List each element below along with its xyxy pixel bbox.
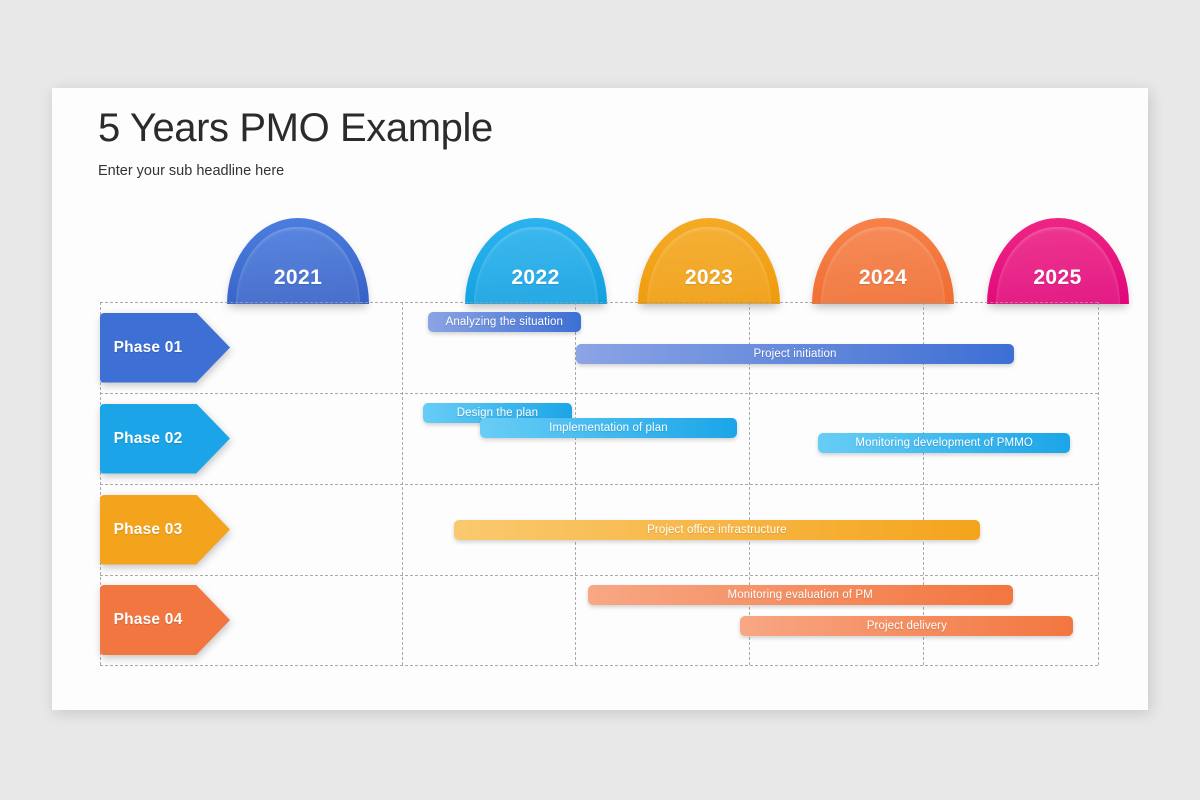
year-marker-2024[interactable]: 2024 [812,218,954,304]
slide-canvas: 5 Years PMO Example Enter your sub headl… [52,88,1148,710]
grid-horizontal-line [100,484,1098,485]
task-bar[interactable]: Project initiation [576,344,1015,364]
task-bar-label: Analyzing the situation [446,316,563,328]
phase-arrow-phase-04[interactable]: Phase 04 [100,585,230,655]
pmo-gantt-chart: 20212022202320242025 Phase 01Phase 02Pha… [52,88,1148,710]
year-label: 2025 [987,266,1129,290]
task-bar-label: Project delivery [867,620,947,632]
grid-horizontal-line [100,575,1098,576]
phase-arrow-phase-01[interactable]: Phase 01 [100,313,230,383]
task-bar-label: Project initiation [753,348,836,360]
phase-arrow-phase-02[interactable]: Phase 02 [100,404,230,474]
task-bar-label: Monitoring evaluation of PM [728,589,873,601]
task-bar-label: Project office infrastructure [647,524,786,536]
task-bar[interactable]: Project delivery [740,616,1073,636]
task-bar[interactable]: Implementation of plan [480,418,737,438]
grid-horizontal-line [100,665,1098,666]
task-bar[interactable]: Project office infrastructure [454,520,980,540]
task-bar[interactable]: Monitoring development of PMMO [818,433,1070,453]
year-label: 2023 [638,266,780,290]
grid-horizontal-line [100,393,1098,394]
phase-label: Phase 01 [100,313,196,383]
grid-vertical-line [402,302,403,665]
year-label: 2021 [227,266,369,290]
year-marker-2023[interactable]: 2023 [638,218,780,304]
phase-label: Phase 04 [100,585,196,655]
phase-label: Phase 03 [100,495,196,565]
year-label: 2022 [465,266,607,290]
grid-horizontal-line [100,302,1098,303]
year-label: 2024 [812,266,954,290]
phase-arrow-phase-03[interactable]: Phase 03 [100,495,230,565]
year-marker-2022[interactable]: 2022 [465,218,607,304]
phase-label: Phase 02 [100,404,196,474]
task-bar-label: Implementation of plan [549,422,668,434]
year-marker-2025[interactable]: 2025 [987,218,1129,304]
task-bar-label: Monitoring development of PMMO [855,437,1033,449]
year-marker-2021[interactable]: 2021 [227,218,369,304]
task-bar[interactable]: Analyzing the situation [428,312,581,332]
task-bar[interactable]: Monitoring evaluation of PM [588,585,1013,605]
grid-vertical-line [1098,302,1099,665]
